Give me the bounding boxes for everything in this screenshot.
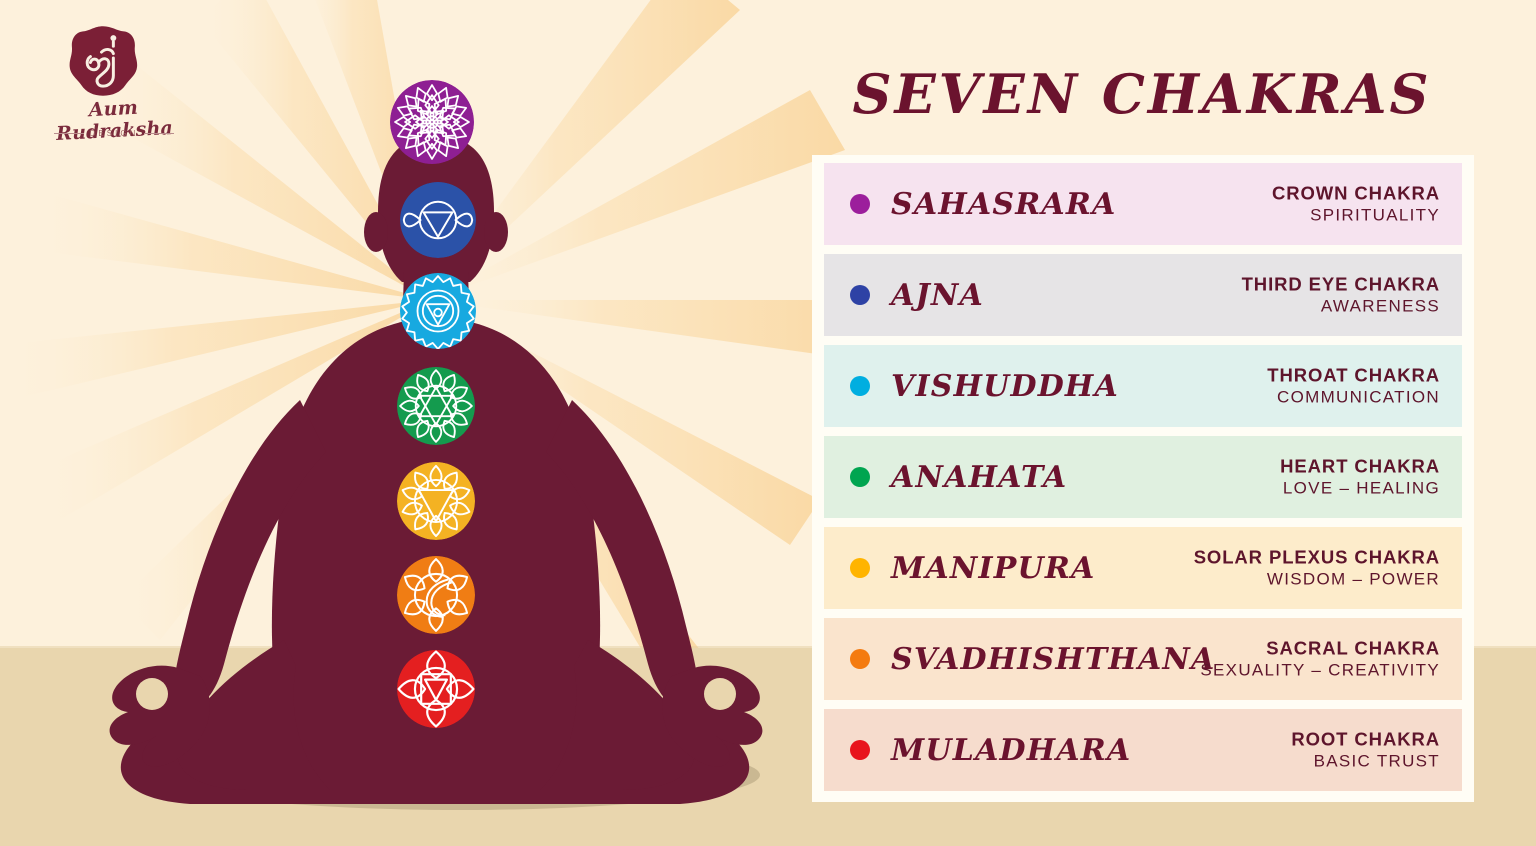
crown-chakra-disc — [390, 80, 474, 164]
chakra-color-dot — [850, 558, 870, 578]
chakra-color-dot — [850, 376, 870, 396]
chakra-sanskrit-name: MULADHARA — [891, 733, 1131, 768]
chakra-sanskrit-name: AJNA — [891, 278, 984, 313]
chakra-sanskrit-name: VISHUDDHA — [891, 369, 1119, 404]
brand-logo[interactable]: Aum Rudraksha DESIGN — [44, 24, 184, 152]
chakra-english-name: THROAT CHAKRA — [1267, 363, 1440, 386]
chakra-meaning: SACRAL CHAKRASEXUALITY – CREATIVITY — [1200, 636, 1440, 681]
chakra-english-name: SOLAR PLEXUS CHAKRA — [1194, 545, 1440, 568]
chakra-english-name: HEART CHAKRA — [1280, 454, 1440, 477]
chakra-english-name: THIRD EYE CHAKRA — [1242, 272, 1440, 295]
chakra-english-name: ROOT CHAKRA — [1291, 727, 1440, 750]
chakra-meaning: ROOT CHAKRABASIC TRUST — [1291, 727, 1440, 772]
chakra-attribute: LOVE – HEALING — [1280, 478, 1440, 500]
chakra-color-dot — [850, 194, 870, 214]
chakra-attribute: AWARENESS — [1242, 296, 1440, 318]
chakra-row[interactable]: ANAHATAHEART CHAKRALOVE – HEALING — [824, 436, 1462, 518]
root-chakra-disc — [397, 650, 475, 728]
sacral-chakra-disc — [397, 556, 475, 634]
tagline-rule-left — [54, 133, 84, 134]
third-eye-chakra-disc — [400, 182, 476, 258]
chakra-color-dot — [850, 740, 870, 760]
chakra-sanskrit-name: SVADHISHTHANA — [891, 642, 1216, 677]
chakra-row[interactable]: SVADHISHTHANASACRAL CHAKRASEXUALITY – CR… — [824, 618, 1462, 700]
chakra-row[interactable]: VISHUDDHATHROAT CHAKRACOMMUNICATION — [824, 345, 1462, 427]
chakra-list: SAHASRARACROWN CHAKRASPIRITUALITYAJNATHI… — [824, 163, 1462, 791]
chakra-attribute: WISDOM – POWER — [1194, 569, 1440, 591]
chakra-attribute: SPIRITUALITY — [1272, 205, 1440, 227]
chakra-meaning: THROAT CHAKRACOMMUNICATION — [1267, 363, 1440, 408]
chakra-sanskrit-name: ANAHATA — [891, 460, 1067, 495]
solar-plexus-chakra-disc — [397, 462, 475, 540]
chakra-row[interactable]: AJNATHIRD EYE CHAKRAAWARENESS — [824, 254, 1462, 336]
chakra-color-dot — [850, 467, 870, 487]
chakra-meaning: THIRD EYE CHAKRAAWARENESS — [1242, 272, 1440, 317]
page-title: SEVEN CHAKRAS — [812, 62, 1472, 126]
tagline-text: DESIGN — [90, 129, 139, 138]
heart-chakra-disc — [397, 367, 475, 445]
chakra-row[interactable]: MANIPURASOLAR PLEXUS CHAKRAWISDOM – POWE… — [824, 527, 1462, 609]
chakra-attribute: SEXUALITY – CREATIVITY — [1200, 660, 1440, 682]
throat-chakra-disc — [400, 273, 476, 349]
chakra-meaning: SOLAR PLEXUS CHAKRAWISDOM – POWER — [1194, 545, 1440, 590]
chakra-attribute: COMMUNICATION — [1267, 387, 1440, 409]
chakra-sanskrit-name: SAHASRARA — [891, 187, 1116, 222]
brand-tagline: DESIGN — [44, 129, 184, 138]
om-rudraksha-icon — [66, 24, 140, 98]
chakra-meaning: CROWN CHAKRASPIRITUALITY — [1272, 181, 1440, 226]
chakra-color-dot — [850, 649, 870, 669]
chakra-row[interactable]: SAHASRARACROWN CHAKRASPIRITUALITY — [824, 163, 1462, 245]
chakra-english-name: SACRAL CHAKRA — [1200, 636, 1440, 659]
chakra-english-name: CROWN CHAKRA — [1272, 181, 1440, 204]
chakra-meaning: HEART CHAKRALOVE – HEALING — [1280, 454, 1440, 499]
chakra-color-dot — [850, 285, 870, 305]
chakra-row[interactable]: MULADHARAROOT CHAKRABASIC TRUST — [824, 709, 1462, 791]
chakra-attribute: BASIC TRUST — [1291, 751, 1440, 773]
tagline-rule-right — [144, 133, 174, 134]
seven-chakras-infographic: Aum Rudraksha DESIGN SEVEN CHAKRAS SAHAS… — [0, 0, 1536, 846]
chakra-sanskrit-name: MANIPURA — [891, 551, 1095, 586]
